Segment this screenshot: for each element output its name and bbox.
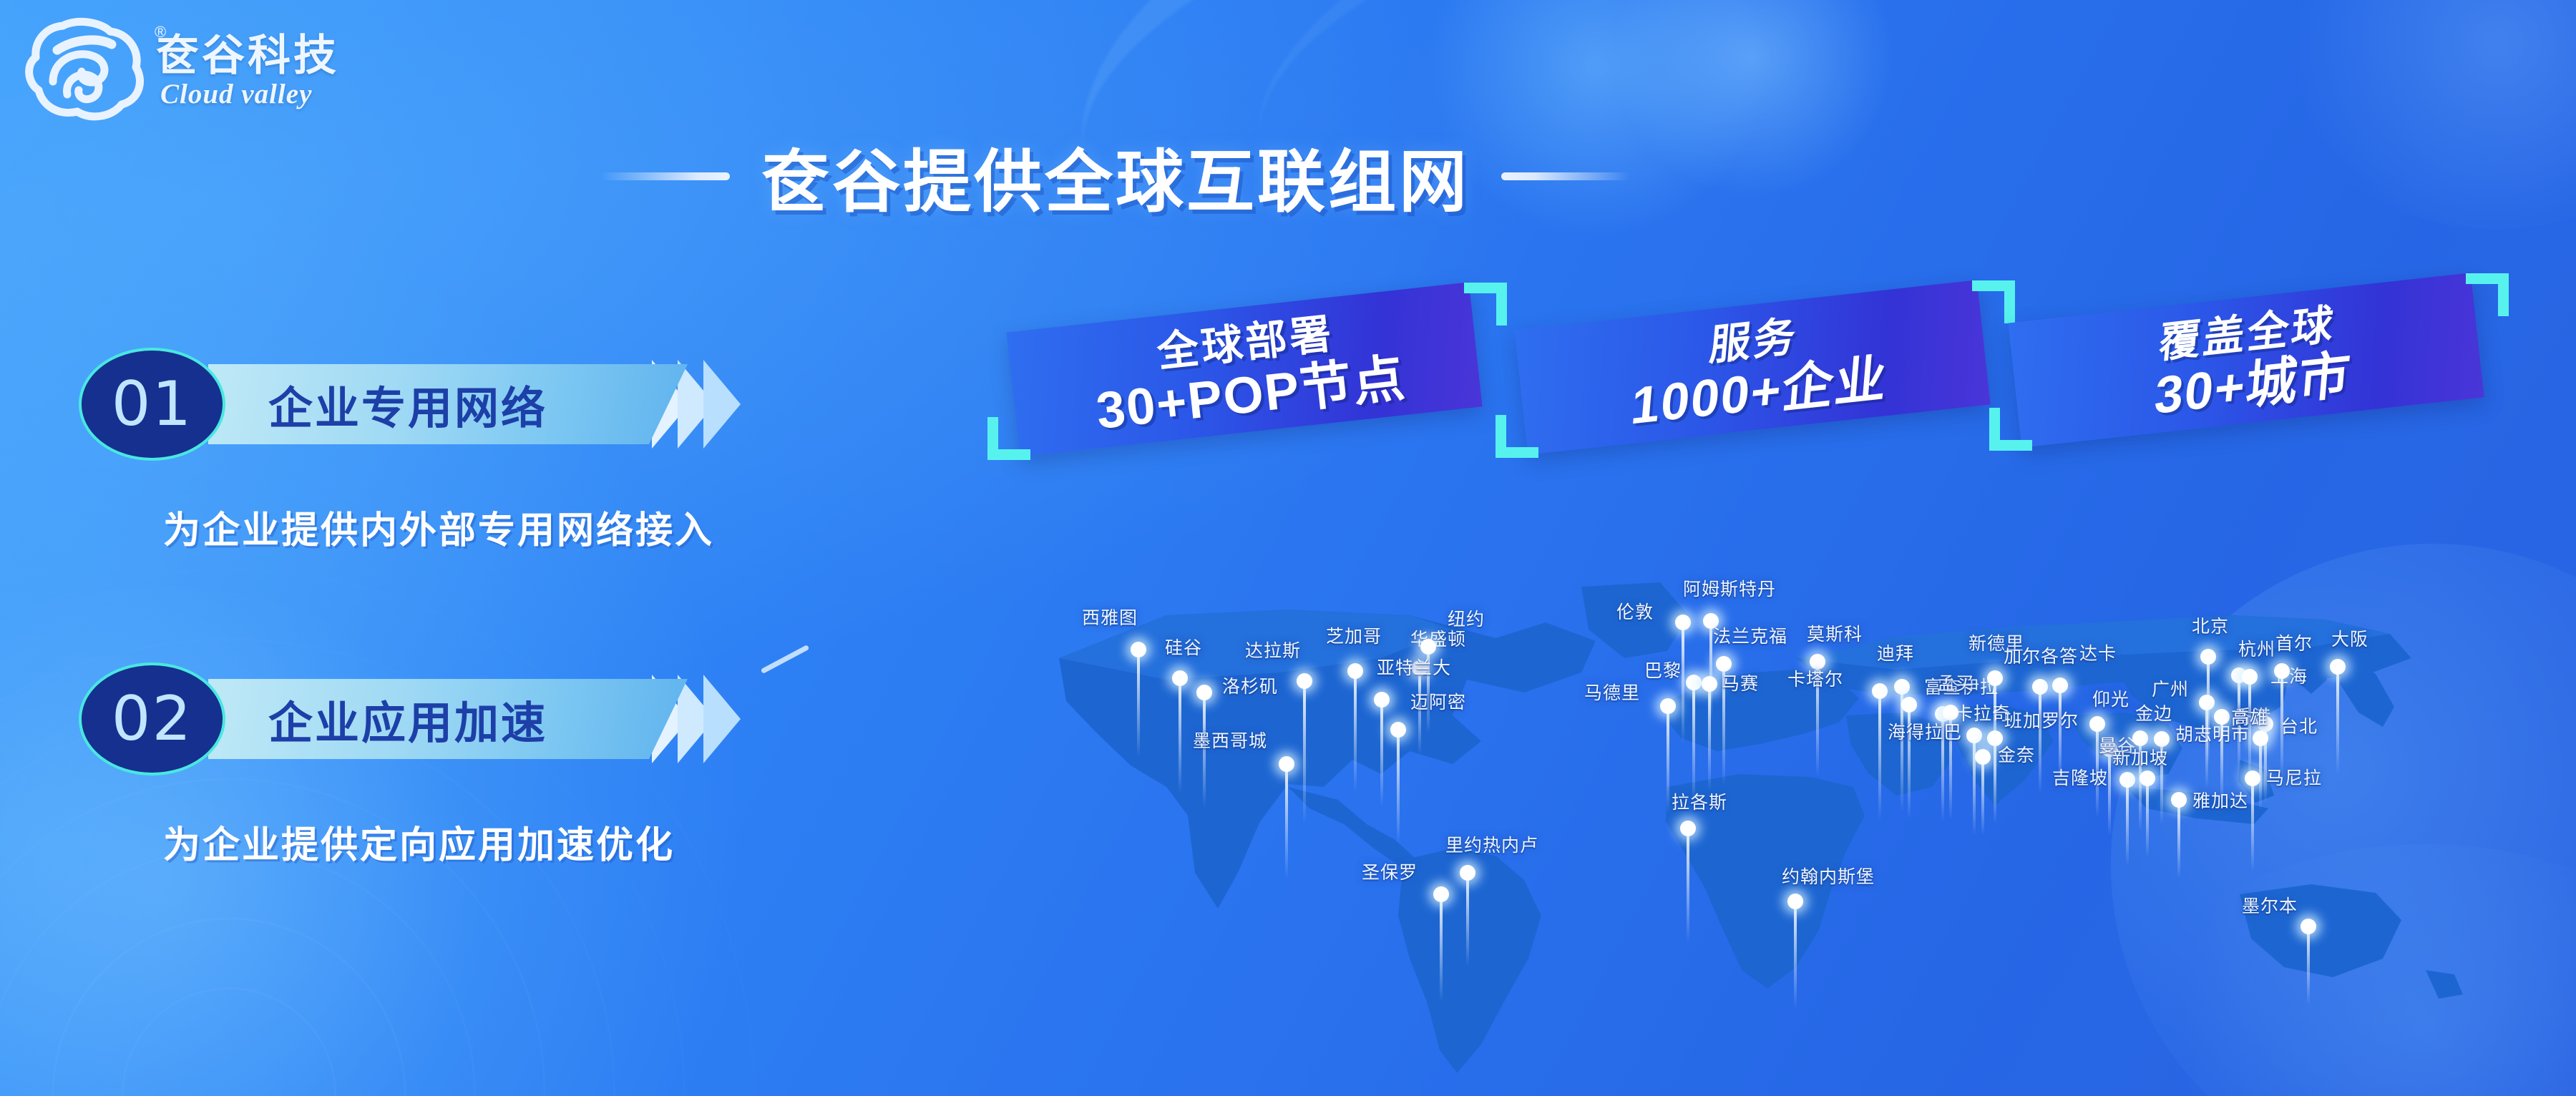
- map-pin-stem: [1687, 828, 1689, 943]
- map-pin-label: 纽约: [1448, 610, 1485, 630]
- map-pin-dot: [2274, 663, 2290, 679]
- stat-badge-enterprises-served: 服务 1000+企业: [1496, 280, 2018, 459]
- feature-02-number-badge: 02: [79, 662, 225, 775]
- map-pin[interactable]: 吉隆坡: [2127, 780, 2128, 866]
- map-pin-label: 广州: [2152, 680, 2189, 700]
- feature-02-header: 02 企业应用加速: [79, 662, 741, 776]
- map-pin-dot: [1787, 894, 1803, 909]
- map-pin-stem: [1137, 650, 1140, 757]
- map-pin-dot: [1131, 642, 1146, 657]
- feature-01-title: 企业专用网络: [208, 372, 547, 436]
- map-pin-stem: [1692, 682, 1695, 804]
- map-pin[interactable]: 硅谷: [1179, 678, 1181, 793]
- map-pin-label: 洛杉矶: [1222, 677, 1278, 698]
- map-pin-dot: [2200, 649, 2216, 665]
- chevron-right-icon: [703, 675, 741, 763]
- corner-bracket-icon: [987, 417, 1030, 460]
- map-pin-stem: [2251, 778, 2254, 871]
- map-pin-dot: [1279, 756, 1294, 772]
- map-pin-label: 约翰内斯堡: [1782, 867, 1875, 888]
- map-pin-dot: [1675, 615, 1691, 630]
- glow-blob-top: [1603, 0, 1903, 207]
- brand-name-en: Cloud valley: [160, 80, 339, 108]
- title-rule-left: [601, 172, 730, 180]
- feature-01-number-badge: 01: [79, 348, 225, 461]
- map-pin[interactable]: 首尔: [2281, 671, 2283, 778]
- feature-01-description: 为企业提供内外部专用网络接入: [163, 500, 741, 554]
- map-pin-dot: [2301, 919, 2316, 934]
- map-pin[interactable]: 广州: [2206, 703, 2207, 788]
- map-pin[interactable]: 里约热内卢: [1467, 873, 1468, 966]
- map-pin-dot: [2052, 677, 2068, 693]
- map-pin-dot: [2199, 695, 2215, 710]
- map-pin-stem: [1994, 738, 1996, 824]
- feature-01-header: 01 企业专用网络: [79, 347, 741, 461]
- map-pin[interactable]: 富查伊拉: [1908, 705, 1910, 819]
- map-pin-dot: [1347, 663, 1363, 679]
- map-pin-label: 墨西哥城: [1193, 731, 1267, 752]
- map-pin[interactable]: 曼谷: [2109, 749, 2110, 835]
- map-pin-label: 金边: [2135, 704, 2172, 725]
- map-pin-label: 墨尔本: [2242, 896, 2298, 917]
- map-pin-label: 马赛: [1722, 674, 1759, 695]
- diagonal-dash-decoration: [761, 645, 810, 674]
- map-pin-dot: [2253, 730, 2268, 746]
- map-pin-stem: [1973, 735, 1976, 836]
- map-pin-label: 伦敦: [1616, 602, 1654, 623]
- map-pin-dot: [2171, 792, 2187, 808]
- map-pin[interactable]: 卡塔尔: [1879, 691, 1880, 820]
- map-pin-label: 巴黎: [1644, 661, 1682, 682]
- map-pin-label: 仰光: [2092, 690, 2129, 710]
- map-pin-dot: [1196, 685, 1212, 700]
- map-pin[interactable]: 伦敦: [1682, 622, 1684, 744]
- feature-01-number: 01: [112, 368, 192, 440]
- map-pin-dot: [1894, 679, 1910, 695]
- map-pin-label: 里约热内卢: [1445, 836, 1538, 856]
- map-pin-stem: [1981, 757, 1984, 836]
- map-pin-stem: [2205, 703, 2208, 788]
- corner-bracket-icon: [2466, 273, 2509, 316]
- map-pin-dot: [1172, 670, 1188, 686]
- map-pin-dot: [2330, 659, 2346, 675]
- map-pin-stem: [2307, 926, 2310, 1005]
- map-pin[interactable]: 芝加哥: [1355, 671, 1356, 793]
- corner-bracket-icon: [1989, 408, 2032, 451]
- map-pin-stem: [1285, 764, 1288, 879]
- map-pin-label: 硅谷: [1165, 638, 1202, 659]
- map-pin-dot: [1297, 673, 1312, 689]
- map-pin-dot: [1680, 821, 1696, 836]
- map-pin-label: 北京: [2192, 617, 2229, 637]
- map-pin-stem: [1303, 681, 1306, 824]
- map-pin[interactable]: 上海: [2249, 677, 2250, 784]
- map-pin-dot: [2140, 770, 2155, 786]
- brand-logo[interactable]: ® 奁谷科技 Cloud valley: [21, 7, 339, 129]
- map-pin[interactable]: 香港: [2221, 717, 2223, 803]
- map-pin-stem: [1354, 671, 1357, 793]
- map-pin[interactable]: 大阪: [2337, 667, 2338, 774]
- map-pin[interactable]: 达拉斯: [1304, 681, 1305, 824]
- feature-item-02[interactable]: 02 企业应用加速 为企业提供定向应用加速优化: [79, 662, 741, 869]
- map-pin[interactable]: 墨西哥城: [1286, 764, 1287, 879]
- map-pin-label: 迪拜: [1877, 644, 1914, 665]
- map-pin[interactable]: 约翰内斯堡: [1795, 901, 1796, 1009]
- feature-02-title: 企业应用加速: [208, 687, 547, 751]
- brand-name-cn: 奁谷科技: [156, 34, 339, 77]
- world-map: 西雅图硅谷洛杉矶达拉斯芝加哥华盛顿纽约亚特兰大迈阿密墨西哥城里约热内卢圣保罗阿姆…: [952, 572, 2576, 1095]
- map-pin-stem: [1682, 622, 1684, 744]
- page-title: 奁谷提供全球互联组网: [761, 127, 1470, 225]
- map-pin-label: 台北: [2280, 717, 2318, 738]
- map-pin-stem: [2336, 667, 2339, 774]
- map-pin-stem: [1397, 730, 1400, 844]
- cloud-logo-icon: [21, 7, 150, 129]
- feature-item-01[interactable]: 01 企业专用网络 为企业提供内外部专用网络接入: [79, 347, 741, 554]
- map-pin-stem: [1440, 894, 1443, 1002]
- map-pin[interactable]: 雅加达: [2178, 800, 2180, 879]
- stat-badge-text: 服务 1000+企业: [1488, 253, 2026, 486]
- map-pin[interactable]: 金奈: [1982, 757, 1984, 836]
- feature-02-ribbon: 企业应用加速: [208, 679, 688, 759]
- map-pin-label: 新加坡: [2112, 748, 2168, 769]
- map-pin-dot: [1810, 654, 1825, 670]
- map-pin-dot: [2132, 730, 2148, 746]
- stat-badge-text: 全球部署 30+POP节点: [980, 255, 1518, 489]
- stat-badge-text: 覆盖全球 30+城市: [1981, 245, 2520, 479]
- map-pin[interactable]: 迈阿密: [1397, 730, 1399, 844]
- feature-02-description: 为企业提供定向应用加速优化: [163, 815, 741, 869]
- map-pin[interactable]: 西雅图: [1138, 650, 1139, 757]
- map-pin-dot: [1460, 865, 1475, 881]
- map-pin-stem: [2280, 671, 2283, 778]
- map-pin-dot: [1716, 656, 1732, 672]
- map-pin-label: 马德里: [1584, 683, 1640, 704]
- map-pin-dot: [1943, 705, 1958, 720]
- map-pin-stem: [2259, 738, 2262, 810]
- map-pin-dot: [1901, 697, 1917, 713]
- map-pin-dot: [1433, 886, 1449, 902]
- map-pin-dot: [2154, 731, 2170, 747]
- map-pin-label: 阿姆斯特丹: [1683, 579, 1776, 600]
- feature-02-number: 02: [112, 683, 192, 755]
- map-pin-label: 芝加哥: [1326, 627, 1382, 647]
- map-pin-label: 卡拉奇: [1955, 704, 2011, 725]
- map-pin-stem: [2177, 800, 2180, 879]
- map-pin-dot: [1374, 692, 1390, 708]
- map-pin[interactable]: 拉各斯: [1687, 828, 1689, 943]
- title-rule-right: [1501, 172, 1630, 180]
- map-pin-label: 圣保罗: [1362, 863, 1418, 884]
- map-pin-dot: [2089, 716, 2105, 732]
- map-pin-dot: [2119, 772, 2135, 788]
- page-title-block: 奁谷提供全球互联组网: [601, 127, 1630, 225]
- map-pin-label: 华盛顿: [1410, 630, 1466, 650]
- stat-badge-value: 1000+企业: [1629, 351, 1890, 434]
- map-pin-stem: [2108, 749, 2111, 835]
- map-pin-label: 金奈: [1998, 745, 2035, 766]
- stat-badge-global-deployment: 全球部署 30+POP节点: [987, 283, 1510, 461]
- map-pin-stem: [1667, 706, 1669, 813]
- map-pin[interactable]: 亚特兰大: [1381, 700, 1382, 807]
- map-pin-label: 杭州: [2238, 640, 2275, 660]
- map-pin[interactable]: 班加罗尔: [1994, 738, 1996, 824]
- map-pin[interactable]: 海得拉巴: [1974, 735, 1975, 836]
- feature-01-ribbon: 企业专用网络: [208, 364, 688, 444]
- map-pin-label: 加尔各答: [2004, 647, 2078, 667]
- map-pin-dot: [2032, 679, 2048, 695]
- map-pin-stem: [2248, 677, 2251, 784]
- map-pin[interactable]: 高雄: [2260, 738, 2261, 810]
- map-pin-dot: [1987, 730, 2003, 746]
- map-pin-stem: [1179, 678, 1181, 793]
- map-pin-label: 马尼拉: [2266, 768, 2322, 789]
- map-pin-dot: [1966, 728, 1982, 743]
- map-pin-stem: [2220, 717, 2223, 803]
- map-pin-dot: [1702, 676, 1717, 692]
- glow-blob-top-right: [2275, 0, 2576, 229]
- stat-badge-global-cities: 覆盖全球 30+城市: [1989, 273, 2512, 452]
- map-pin-dot: [2245, 770, 2260, 786]
- map-pin-dot: [2214, 709, 2230, 725]
- map-pin-dot: [1975, 749, 1991, 765]
- map-pin-dot: [1420, 639, 1436, 655]
- map-pin-label: 达卡: [2079, 644, 2117, 665]
- map-pin-label: 达拉斯: [1245, 641, 1301, 662]
- registered-mark: ®: [155, 24, 166, 40]
- map-pin-dot: [1987, 670, 2003, 686]
- map-pin-stem: [1466, 873, 1469, 966]
- map-pin[interactable]: 墨尔本: [2308, 926, 2309, 1005]
- map-pin-stem: [1794, 901, 1797, 1009]
- map-pin[interactable]: 圣保罗: [1440, 894, 1442, 1002]
- map-pin-label: 拉各斯: [1672, 793, 1727, 813]
- map-pin-label: 法兰克福: [1713, 627, 1787, 647]
- map-pin-label: 迈阿密: [1410, 693, 1466, 713]
- map-pin-label: 西雅图: [1082, 608, 1138, 629]
- map-pin-label: 亚特兰大: [1377, 658, 1451, 679]
- map-pin[interactable]: 加尔各答: [2039, 687, 2041, 794]
- map-pin-dot: [2242, 669, 2258, 685]
- map-pin-label: 海得拉巴: [1888, 723, 1962, 743]
- map-pin-label: 首尔: [2275, 634, 2313, 655]
- map-pin[interactable]: 马尼拉: [2252, 778, 2253, 871]
- map-pin-stem: [1908, 705, 1911, 819]
- map-pin-stem: [2039, 687, 2041, 794]
- map-pin[interactable]: 马德里: [1667, 706, 1669, 813]
- map-pin-stem: [1380, 700, 1383, 807]
- map-pin-dot: [1686, 675, 1702, 690]
- brand-wordmark: ® 奁谷科技 Cloud valley: [156, 34, 339, 108]
- map-pin-label: 莫斯科: [1807, 625, 1863, 645]
- map-pin-dot: [1872, 683, 1888, 699]
- map-pin-stem: [2126, 780, 2129, 866]
- corner-bracket-icon: [1496, 415, 1538, 458]
- chevron-right-icon: [703, 360, 741, 449]
- map-pin-stem: [1708, 684, 1711, 791]
- map-pin-label: 孟买: [1937, 674, 1974, 695]
- map-pin-stem: [2146, 778, 2149, 857]
- map-pin[interactable]: 巴黎: [1693, 682, 1694, 804]
- map-pin-stem: [1878, 691, 1881, 820]
- map-pin-label: 班加罗尔: [2004, 711, 2079, 732]
- map-pin-dot: [1660, 698, 1676, 714]
- map-pin-label: 大阪: [2331, 630, 2368, 650]
- map-pin[interactable]: 新加坡: [2147, 778, 2148, 857]
- map-pin[interactable]: 马赛: [1709, 684, 1710, 791]
- map-pin-label: 高雄: [2231, 708, 2268, 729]
- map-pin-label: 卡塔尔: [1787, 670, 1843, 690]
- map-pin-dot: [1390, 722, 1406, 738]
- map-pin-label: 吉隆坡: [2052, 768, 2108, 789]
